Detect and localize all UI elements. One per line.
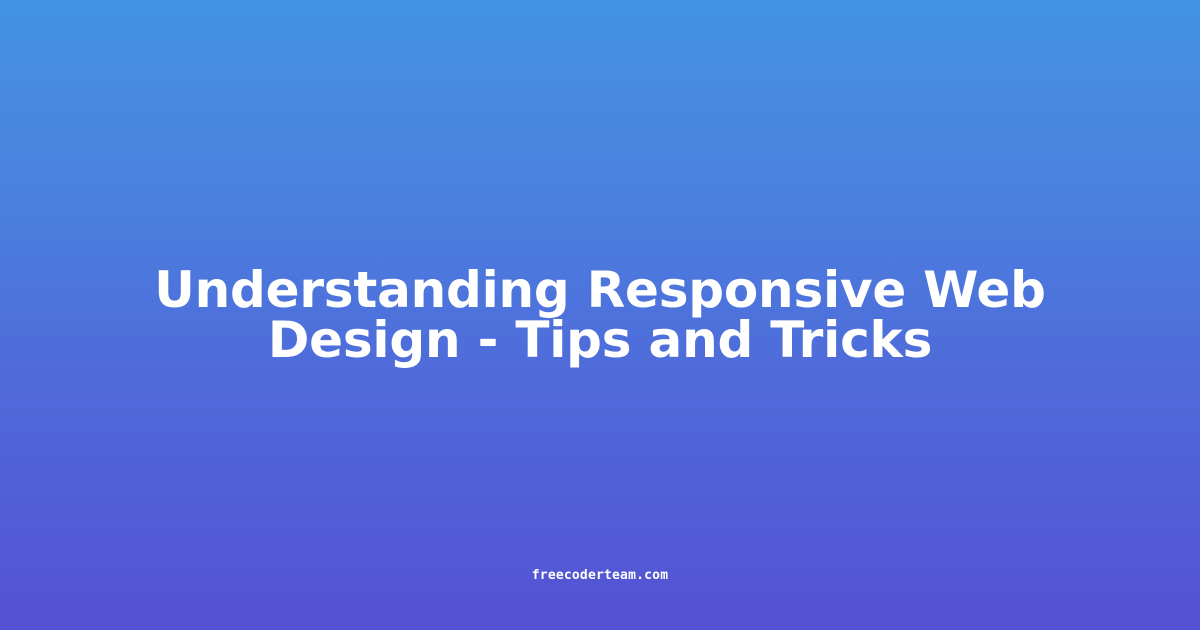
og-banner-card: Understanding Responsive Web Design - Ti… [0,0,1200,630]
site-domain-label: freecoderteam.com [532,568,668,584]
title-block: Understanding Responsive Web Design - Ti… [0,0,1200,630]
footer-block: freecoderteam.com [0,568,1200,584]
page-title: Understanding Responsive Web Design - Ti… [120,265,1080,365]
